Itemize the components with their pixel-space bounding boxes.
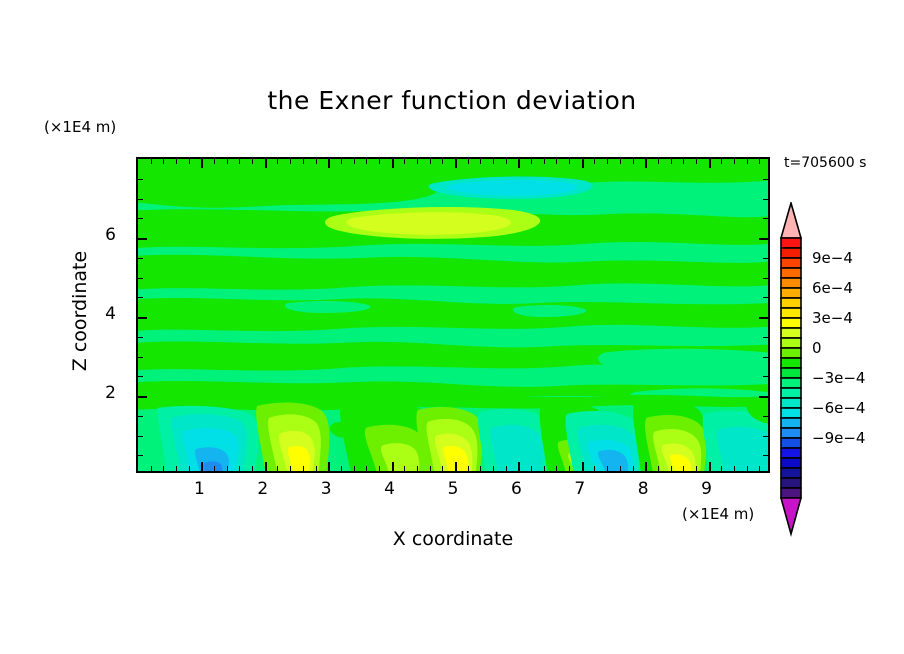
x-tick-top [506, 159, 507, 164]
x-tick [734, 466, 735, 471]
y-tick [138, 179, 143, 180]
x-tick [480, 466, 481, 471]
x-tick-top [265, 159, 267, 168]
x-tick [379, 466, 380, 471]
x-tick [252, 466, 253, 471]
y-tick-right [763, 436, 768, 437]
x-tick [683, 466, 684, 471]
x-tick [404, 466, 405, 471]
y-tick [138, 238, 147, 240]
x-tick-top [671, 159, 672, 164]
x-tick [277, 466, 278, 471]
x-tick-top [239, 159, 240, 164]
x-tick-label: 1 [179, 479, 219, 499]
contour-field [138, 159, 768, 471]
x-tick-top [417, 159, 418, 164]
x-tick-top [316, 159, 317, 164]
x-tick-top [379, 159, 380, 164]
x-tick-top [201, 159, 203, 168]
x-tick-label: 4 [370, 479, 410, 499]
x-tick-top [531, 159, 532, 164]
y-tick-right [763, 218, 768, 219]
x-tick [189, 466, 190, 471]
x-tick-top [404, 159, 405, 164]
x-tick-top [430, 159, 431, 164]
x-tick-top [544, 159, 545, 164]
x-tick-top [303, 159, 304, 164]
y-tick [138, 376, 143, 377]
x-tick [493, 466, 494, 471]
x-tick [328, 462, 330, 471]
x-tick-top [227, 159, 228, 164]
x-tick [303, 466, 304, 471]
y-tick-label: 4 [88, 304, 116, 324]
x-tick [316, 466, 317, 471]
x-tick-label: 9 [687, 479, 727, 499]
y-tick-right [763, 179, 768, 180]
y-tick [138, 455, 143, 456]
x-tick-top [392, 159, 394, 168]
x-tick [582, 462, 584, 471]
x-tick-label: 3 [306, 479, 346, 499]
x-tick [151, 466, 152, 471]
x-tick-label: 8 [623, 479, 663, 499]
x-tick [696, 466, 697, 471]
y-tick-right [763, 357, 768, 358]
x-tick-top [645, 159, 647, 168]
x-tick [239, 466, 240, 471]
x-tick-top [582, 159, 584, 168]
x-tick [430, 466, 431, 471]
x-tick [721, 466, 722, 471]
x-tick [709, 462, 711, 471]
x-tick [671, 466, 672, 471]
x-tick-top [620, 159, 621, 164]
x-tick [506, 466, 507, 471]
y-tick [138, 199, 143, 200]
x-tick [176, 466, 177, 471]
x-tick [366, 466, 367, 471]
x-tick [645, 462, 647, 471]
x-tick-top [734, 159, 735, 164]
colorbar-label: 3e−4 [812, 309, 853, 327]
colorbar-label: 9e−4 [812, 249, 853, 267]
colorbar-label: 0 [812, 339, 822, 357]
x-tick [290, 466, 291, 471]
y-tick [138, 278, 143, 279]
x-tick [442, 466, 443, 471]
colorbar-label: −6e−4 [812, 399, 865, 417]
x-tick [620, 466, 621, 471]
x-tick-top [214, 159, 215, 164]
x-tick-top [493, 159, 494, 164]
x-tick [163, 466, 164, 471]
x-tick [633, 466, 634, 471]
y-tick-right [763, 199, 768, 200]
y-tick-right [763, 376, 768, 377]
x-tick-top [747, 159, 748, 164]
x-tick-top [290, 159, 291, 164]
y-tick [138, 258, 143, 259]
x-tick-top [176, 159, 177, 164]
x-tick [759, 466, 760, 471]
timestamp-annotation: t=705600 s [784, 155, 866, 171]
contour-plot-area [136, 157, 770, 473]
x-tick [201, 462, 203, 471]
x-tick [468, 466, 469, 471]
y-tick-right [763, 455, 768, 456]
x-tick-top [277, 159, 278, 164]
y-tick-right [759, 317, 768, 319]
x-tick [569, 466, 570, 471]
x-axis-unit-label: (×1E4 m) [682, 505, 754, 523]
x-tick-top [556, 159, 557, 164]
x-tick [747, 466, 748, 471]
y-tick-right [759, 396, 768, 398]
chart-title: the Exner function deviation [0, 86, 904, 115]
colorbar-label: −3e−4 [812, 369, 865, 387]
x-tick-top [252, 159, 253, 164]
x-tick-top [696, 159, 697, 164]
x-tick-top [151, 159, 152, 164]
y-tick-right [763, 337, 768, 338]
y-tick-right [763, 278, 768, 279]
x-tick-top [633, 159, 634, 164]
y-axis-title: Z coordinate [69, 201, 91, 421]
y-tick [138, 396, 147, 398]
y-tick [138, 337, 143, 338]
x-tick-top [366, 159, 367, 164]
x-tick-top [518, 159, 520, 168]
x-tick [518, 462, 520, 471]
x-tick [531, 466, 532, 471]
x-tick-top [594, 159, 595, 164]
x-tick [392, 462, 394, 471]
x-tick-top [163, 159, 164, 164]
x-tick-top [569, 159, 570, 164]
y-tick-right [763, 258, 768, 259]
x-tick-label: 5 [433, 479, 473, 499]
x-tick-top [658, 159, 659, 164]
x-tick-top [442, 159, 443, 164]
x-tick-top [189, 159, 190, 164]
x-tick-label: 7 [560, 479, 600, 499]
y-tick [138, 436, 143, 437]
x-tick [227, 466, 228, 471]
x-tick [544, 466, 545, 471]
y-tick [138, 218, 143, 219]
x-tick [265, 462, 267, 471]
y-tick-right [763, 297, 768, 298]
x-tick-top [480, 159, 481, 164]
x-tick-top [683, 159, 684, 164]
x-tick [556, 466, 557, 471]
y-tick-right [759, 238, 768, 240]
x-axis-title: X coordinate [136, 528, 770, 550]
x-tick-top [341, 159, 342, 164]
x-tick [417, 466, 418, 471]
y-tick-label: 2 [88, 383, 116, 403]
x-tick [594, 466, 595, 471]
y-tick [138, 416, 143, 417]
y-tick-label: 6 [88, 225, 116, 245]
x-tick-label: 6 [496, 479, 536, 499]
y-tick [138, 317, 147, 319]
colorbar [779, 202, 803, 554]
colorbar-label: 6e−4 [812, 279, 853, 297]
x-tick-top [455, 159, 457, 168]
y-tick-right [763, 416, 768, 417]
x-tick-top [759, 159, 760, 164]
x-tick-top [468, 159, 469, 164]
x-tick [455, 462, 457, 471]
x-tick [607, 466, 608, 471]
x-tick [214, 466, 215, 471]
x-tick-label: 2 [243, 479, 283, 499]
x-tick-top [354, 159, 355, 164]
x-tick-top [709, 159, 711, 168]
x-tick [341, 466, 342, 471]
y-tick [138, 297, 143, 298]
colorbar-label: −9e−4 [812, 429, 865, 447]
y-axis-unit-label: (×1E4 m) [44, 118, 116, 136]
x-tick [658, 466, 659, 471]
y-tick [138, 357, 143, 358]
x-tick-top [607, 159, 608, 164]
x-tick-top [721, 159, 722, 164]
x-tick [354, 466, 355, 471]
x-tick-top [328, 159, 330, 168]
